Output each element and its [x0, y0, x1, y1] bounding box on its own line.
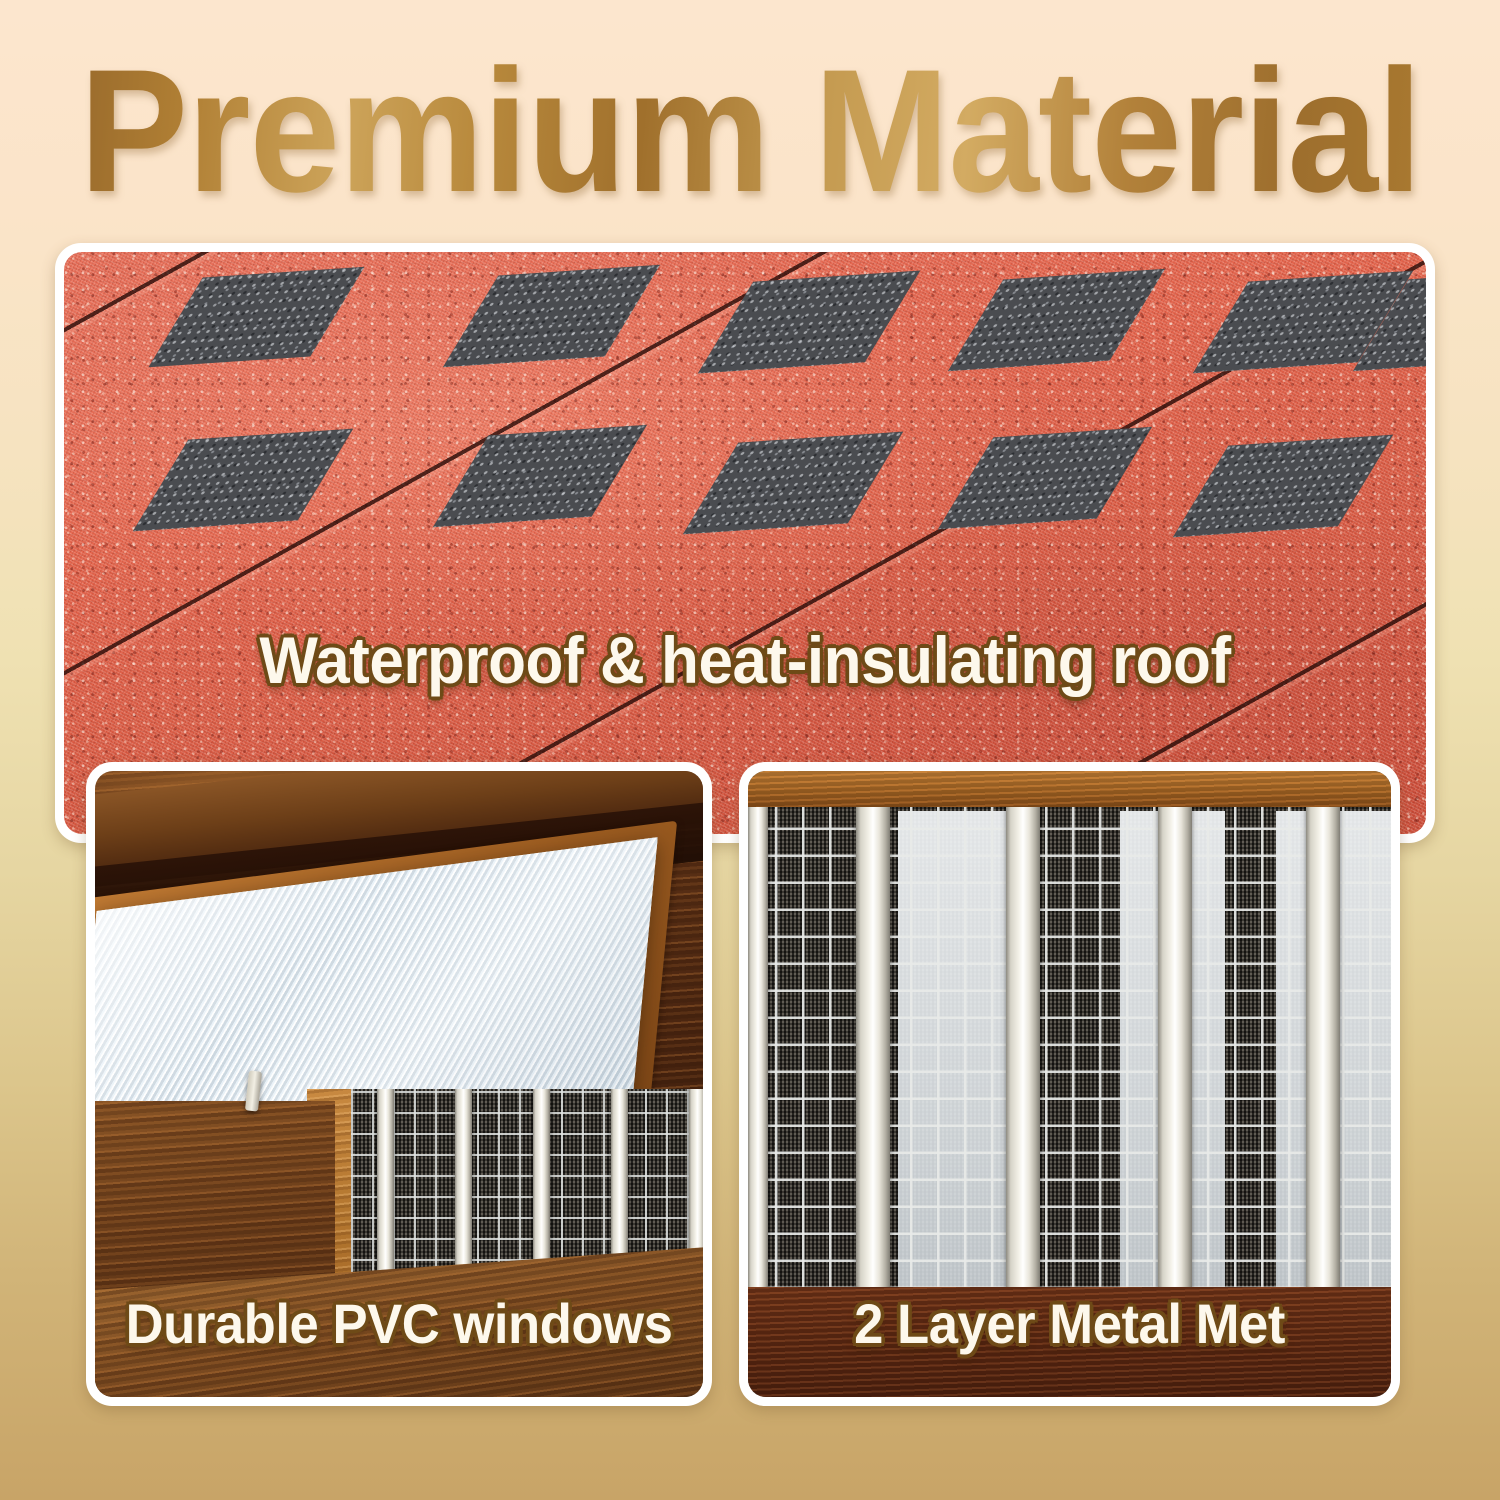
metal-mesh-photo: 2 Layer Metal Met [748, 771, 1391, 1397]
feature-card-metal-mesh: 2 Layer Metal Met [739, 762, 1400, 1406]
mesh-top-rail [748, 771, 1391, 807]
pvc-caption: Durable PVC windows [113, 1291, 685, 1356]
feature-card-pvc-window: Durable PVC windows [86, 762, 712, 1406]
feature-card-roof: Waterproof & heat-insulating roof [55, 243, 1435, 843]
mesh-caption: 2 Layer Metal Met [767, 1291, 1371, 1356]
pvc-window-photo: Durable PVC windows [95, 771, 703, 1397]
poster-title-container: Premium Material [0, 44, 1500, 219]
roof-caption: Waterproof & heat-insulating roof [105, 622, 1385, 698]
page-title: Premium Material [79, 44, 1421, 219]
roof-photo: Waterproof & heat-insulating roof [64, 252, 1426, 834]
product-feature-poster: Premium Material Waterproof & heat-insul… [0, 0, 1500, 1500]
